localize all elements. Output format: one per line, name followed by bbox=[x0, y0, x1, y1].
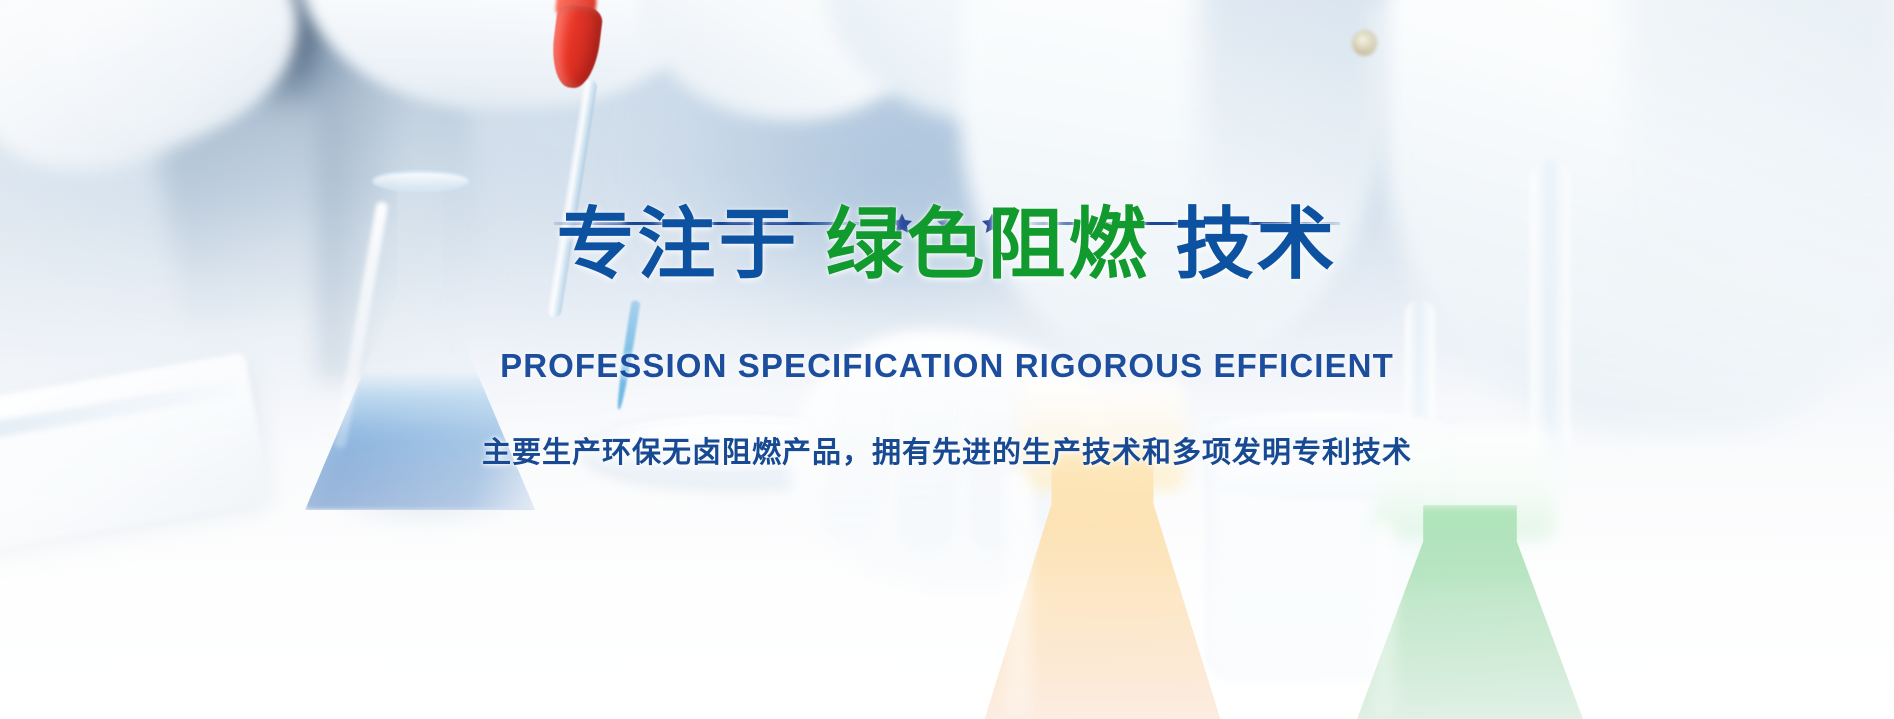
hero-banner: 专注于绿色阻燃技术 PROFESSION SPECIFICATION RIGOR… bbox=[0, 0, 1894, 719]
photo-soft-overlay bbox=[0, 0, 1894, 719]
laboratory-background-photo bbox=[0, 0, 1894, 719]
